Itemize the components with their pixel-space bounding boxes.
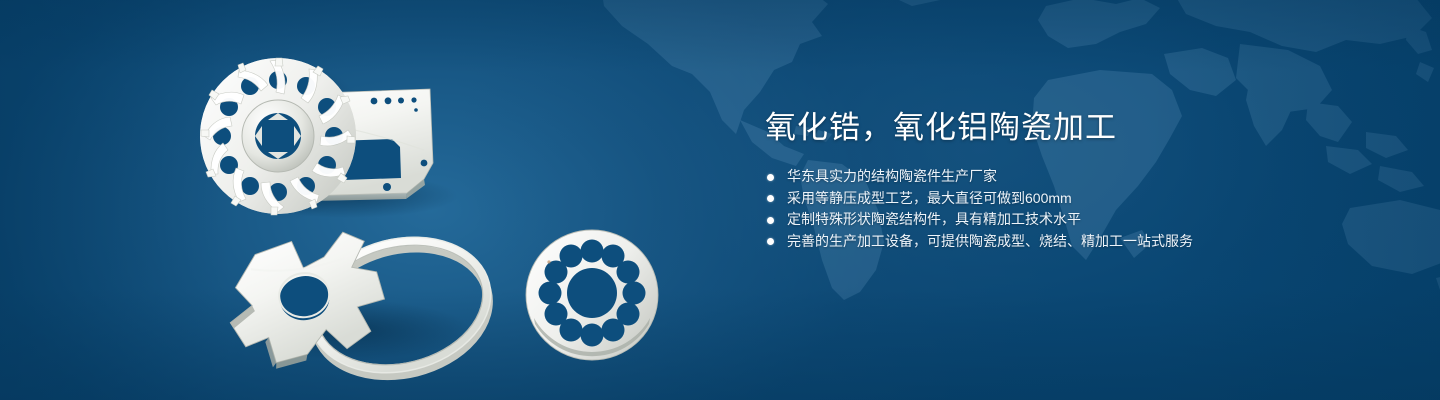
dot-bullet-icon [767,217,774,224]
page-title: 氧化锆，氧化铝陶瓷加工 [765,108,1385,148]
list-item: 定制特殊形状陶瓷结构件，具有精加工技术水平 [765,209,1385,231]
dot-bullet-icon [767,174,774,181]
feature-text: 采用等静压成型工艺，最大直径可做到600mm [787,190,1072,206]
banner-text-block: 氧化锆，氧化铝陶瓷加工 华东具实力的结构陶瓷件生产厂家 采用等静压成型工艺，最大… [765,108,1385,252]
list-item: 采用等静压成型工艺，最大直径可做到600mm [765,188,1385,210]
list-item: 华东具实力的结构陶瓷件生产厂家 [765,166,1385,188]
ceramic-impeller-disc [200,58,356,215]
ceramic-perforated-disc [526,230,658,360]
feature-text: 华东具实力的结构陶瓷件生产厂家 [787,168,997,184]
feature-list: 华东具实力的结构陶瓷件生产厂家 采用等静压成型工艺，最大直径可做到600mm 定… [765,166,1385,252]
hero-banner: 氧化锆，氧化铝陶瓷加工 华东具实力的结构陶瓷件生产厂家 采用等静压成型工艺，最大… [0,0,1440,400]
feature-text: 定制特殊形状陶瓷结构件，具有精加工技术水平 [787,211,1081,227]
feature-text: 完善的生产加工设备，可提供陶瓷成型、烧结、精加工一站式服务 [787,233,1193,249]
dot-bullet-icon [767,238,774,245]
product-photo-collage [0,0,700,400]
list-item: 完善的生产加工设备，可提供陶瓷成型、烧结、精加工一站式服务 [765,231,1385,253]
dot-bullet-icon [767,195,774,202]
